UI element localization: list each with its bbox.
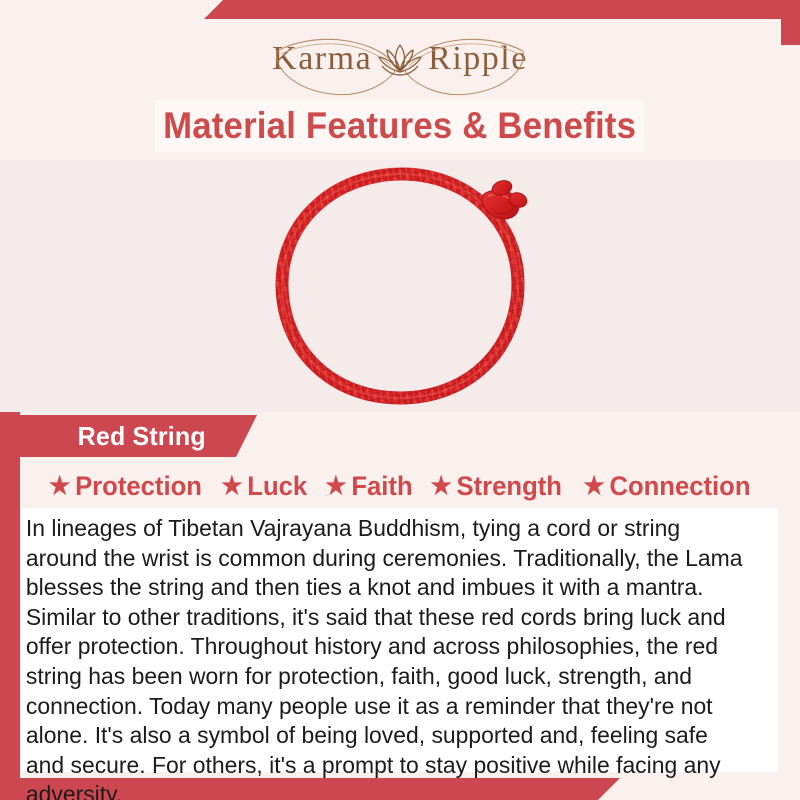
benefit-label: Luck	[247, 473, 307, 500]
star-icon: ★	[583, 474, 604, 499]
material-name: Red String	[78, 421, 206, 452]
page-title-band: Material Features & Benefits	[155, 100, 644, 152]
benefit-item: ★ Faith	[325, 473, 412, 500]
star-icon: ★	[431, 474, 452, 499]
brand-logo: Karma Ripple	[0, 26, 800, 92]
benefit-label: Strength	[457, 473, 562, 500]
benefit-item: ★ Protection	[49, 473, 202, 500]
page-title: Material Features & Benefits	[163, 105, 636, 147]
description-area: In lineages of Tibetan Vajrayana Buddhis…	[22, 508, 778, 772]
top-red-accent-bar	[204, 0, 800, 19]
star-icon: ★	[49, 474, 70, 499]
bracelet-knot	[482, 178, 529, 219]
material-name-banner: Red String	[20, 415, 257, 457]
benefit-label: Protection	[75, 473, 202, 500]
product-image-area	[0, 160, 800, 412]
benefit-label: Faith	[351, 473, 412, 500]
benefit-item: ★ Luck	[221, 473, 307, 500]
benefit-item: ★ Connection	[583, 473, 750, 500]
logo-word-left: Karma	[272, 42, 372, 76]
benefit-label: Connection	[609, 473, 750, 500]
benefit-item: ★ Strength	[431, 473, 563, 500]
infographic-page: Karma Ripple Material Features & Benefit…	[0, 0, 800, 800]
star-icon: ★	[325, 474, 346, 499]
benefits-row: ★ Protection ★ Luck ★ Faith ★ Strength ★…	[22, 466, 778, 506]
description-text: In lineages of Tibetan Vajrayana Buddhis…	[22, 514, 759, 800]
red-string-bracelet-image	[230, 160, 570, 412]
star-icon: ★	[221, 474, 242, 499]
logo-word-right: Ripple	[428, 42, 528, 76]
lotus-icon	[374, 37, 426, 81]
